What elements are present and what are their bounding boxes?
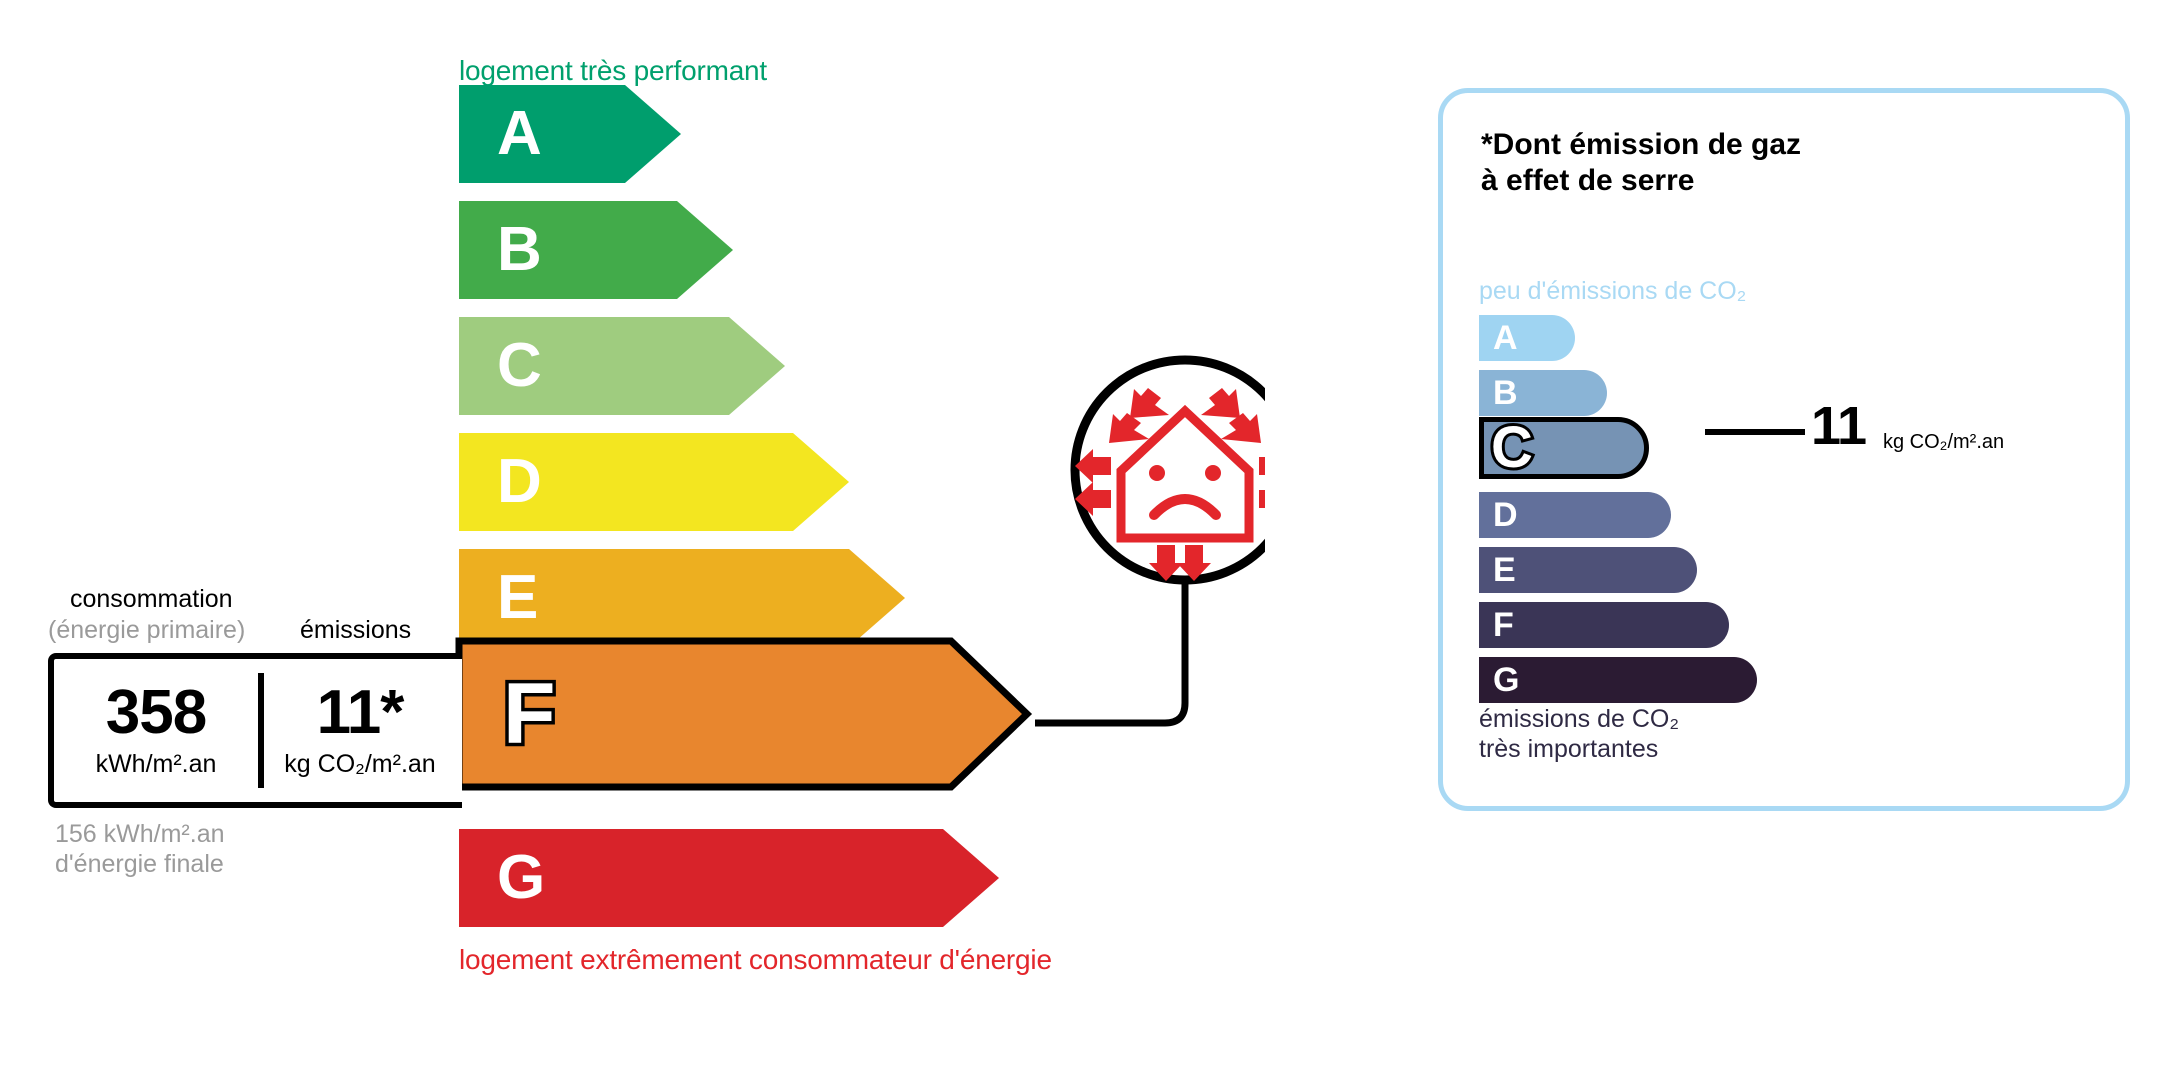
co2-bar-row-a: A [1479,315,2099,361]
energy-band-c: C [459,317,785,415]
consumption-value: 358 [106,682,206,744]
band-shape [459,433,849,531]
co2-bar-letter: A [1493,321,1518,355]
co2-bar [1479,657,1757,703]
co2-bar-list: ABCDEFG [1479,315,2099,712]
co2-leader-line [1705,429,1805,435]
co2-bar-letter: E [1493,553,1516,587]
energy-band-b: B [459,201,733,299]
scale-bottom-caption: logement extrêmement consommateur d'éner… [459,944,1052,976]
consumption-cell: 358 kWh/m².an [54,659,258,802]
co2-bar-row-d: D [1479,492,2099,538]
band-shape [459,201,733,299]
energy-performance-scale: logement très performant ABCDEFG logemen… [0,0,1300,1079]
energy-band-e: E [459,549,905,647]
co2-bar-letter: C [1491,419,1533,477]
co2-bar-row-f: F [1479,602,2099,648]
co2-bar-letter: F [1493,608,1514,642]
band-shape [459,829,999,927]
band-shape [459,85,681,183]
energy-band-f: F [459,641,1027,787]
label-energie-primaire: (énergie primaire) [48,616,245,645]
energy-band-g: G [459,829,999,927]
co2-value: 11 [1811,399,1866,453]
co2-bottom-caption: émissions de CO₂ très importantes [1479,705,1679,764]
final-energy-note: 156 kWh/m².an d'énergie finale [55,820,225,879]
label-consommation: consommation [70,585,233,614]
co2-bar [1479,602,1729,648]
co2-bar-letter: D [1493,498,1518,532]
co2-bar-row-g: G [1479,657,2099,703]
co2-bar-letter: G [1493,663,1519,697]
label-emissions: émissions [300,616,411,645]
co2-panel-title: *Dont émission de gaz à effet de serre [1481,127,1801,199]
emission-unit: kg CO₂/m².an [284,750,435,779]
co2-bar-row-b: B [1479,370,2099,416]
co2-bar-letter: B [1493,376,1518,410]
energy-band-a: A [459,85,681,183]
co2-value-unit: kg CO₂/m².an [1883,431,2004,454]
value-summary-box: 358 kWh/m².an 11* kg CO₂/m².an [48,653,462,808]
consumption-unit: kWh/m².an [96,750,217,779]
band-shape [459,317,785,415]
band-shape [459,549,905,647]
emission-cell: 11* kg CO₂/m².an [258,659,462,802]
co2-bar-row-e: E [1479,547,2099,593]
scale-top-caption: logement très performant [459,55,767,87]
co2-top-caption: peu d'émissions de CO₂ [1479,277,1746,306]
band-shape [459,641,1027,787]
emission-value: 11* [317,682,404,744]
co2-emissions-panel: *Dont émission de gaz à effet de serre p… [1438,88,2130,811]
energy-band-d: D [459,433,849,531]
sad-house-callout [1035,355,1265,755]
